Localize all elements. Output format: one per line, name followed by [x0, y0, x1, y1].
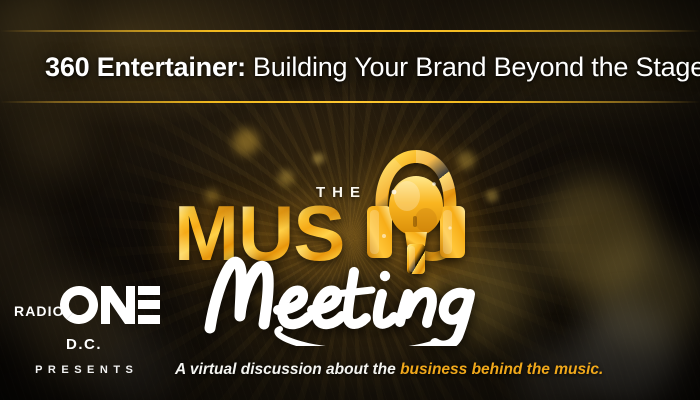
- radio-one-wordmark: RADIO: [8, 282, 160, 328]
- divider-line-top: [0, 30, 700, 32]
- presents-label: PRESENTS: [8, 364, 160, 376]
- headline: 360 Entertainer: Building Your Brand Bey…: [45, 47, 665, 87]
- radio-one-radio-text: RADIO: [14, 303, 65, 319]
- divider-line-bottom: [0, 101, 700, 103]
- promo-graphic: 360 Entertainer: Building Your Brand Bey…: [0, 0, 700, 400]
- radio-one-market: D.C.: [8, 336, 160, 353]
- tagline: A virtual discussion about the business …: [175, 361, 603, 379]
- headline-rest: Building Your Brand Beyond the Stage: [253, 52, 700, 83]
- tagline-lead: A virtual discussion about the: [175, 361, 400, 378]
- tagline-accent: business behind the music.: [400, 361, 603, 378]
- radio-one-logo: RADIO D.C. PRESENTS: [8, 282, 160, 388]
- logo-meeting-script: [196, 250, 516, 346]
- music-meeting-logo: THE M U S C: [168, 138, 540, 363]
- headline-strong: 360 Entertainer:: [45, 52, 246, 83]
